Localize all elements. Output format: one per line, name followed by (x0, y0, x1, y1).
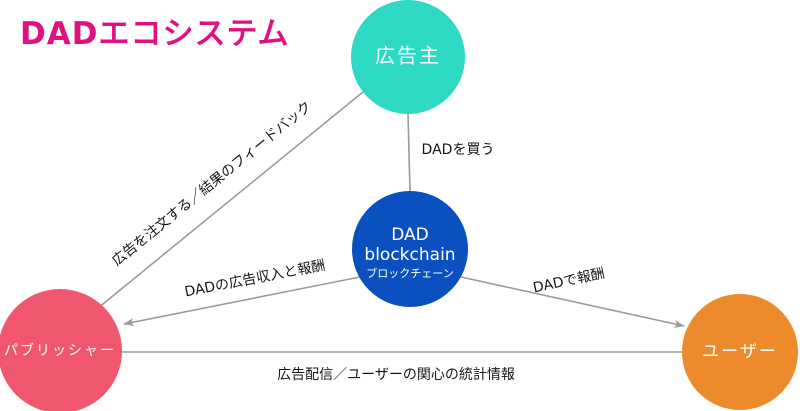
edge-label-text-publisher-to-user: 広告配信／ユーザーの関心の統計情報 (277, 367, 515, 383)
edge-label-publisher-to-user: 広告配信／ユーザーの関心の統計情報 (277, 367, 515, 383)
edge-label-advertiser-to-blockchain: DADを買う (422, 142, 495, 158)
nodes-layer: 広告主DADblockchainブロックチェーンパブリッシャーユーザー (0, 0, 798, 411)
edge-label-blockchain-to-user: DADで報酬 (532, 266, 607, 297)
node-label-blockchain: DAD (391, 225, 429, 245)
node-user[interactable]: ユーザー (682, 294, 798, 410)
page-title: DADエコシステム (20, 16, 290, 52)
node-label-advertiser: 広告主 (375, 44, 441, 68)
node-label-user: ユーザー (702, 342, 778, 362)
node-sublabel-blockchain: ブロックチェーン (366, 266, 453, 280)
edge-label-advertiser-to-publisher: 広告を注文する／結果のフィードバック (109, 99, 315, 270)
edge-label-text-advertiser-to-blockchain: DADを買う (422, 142, 495, 158)
diagram-canvas: 広告主DADblockchainブロックチェーンパブリッシャーユーザー DADを… (0, 0, 800, 411)
node-advertiser[interactable]: 広告主 (351, 0, 465, 114)
node-label2-blockchain: blockchain (364, 245, 455, 265)
edge-label-text-blockchain-to-user: DADで報酬 (532, 266, 607, 297)
edge-label-text-advertiser-to-publisher: 広告を注文する／結果のフィードバック (109, 99, 315, 270)
node-blockchain[interactable]: DADblockchainブロックチェーン (352, 191, 468, 307)
node-publisher[interactable]: パブリッシャー (0, 289, 122, 411)
node-label-publisher: パブリッシャー (4, 342, 116, 359)
edge-label-blockchain-to-publisher: DADの広告収入と報酬 (183, 258, 326, 301)
edge-advertiser-to-blockchain (408, 114, 410, 191)
dad-ecosystem-diagram: 広告主DADblockchainブロックチェーンパブリッシャーユーザー DADを… (0, 0, 800, 411)
edge-label-text-blockchain-to-publisher: DADの広告収入と報酬 (183, 258, 326, 301)
